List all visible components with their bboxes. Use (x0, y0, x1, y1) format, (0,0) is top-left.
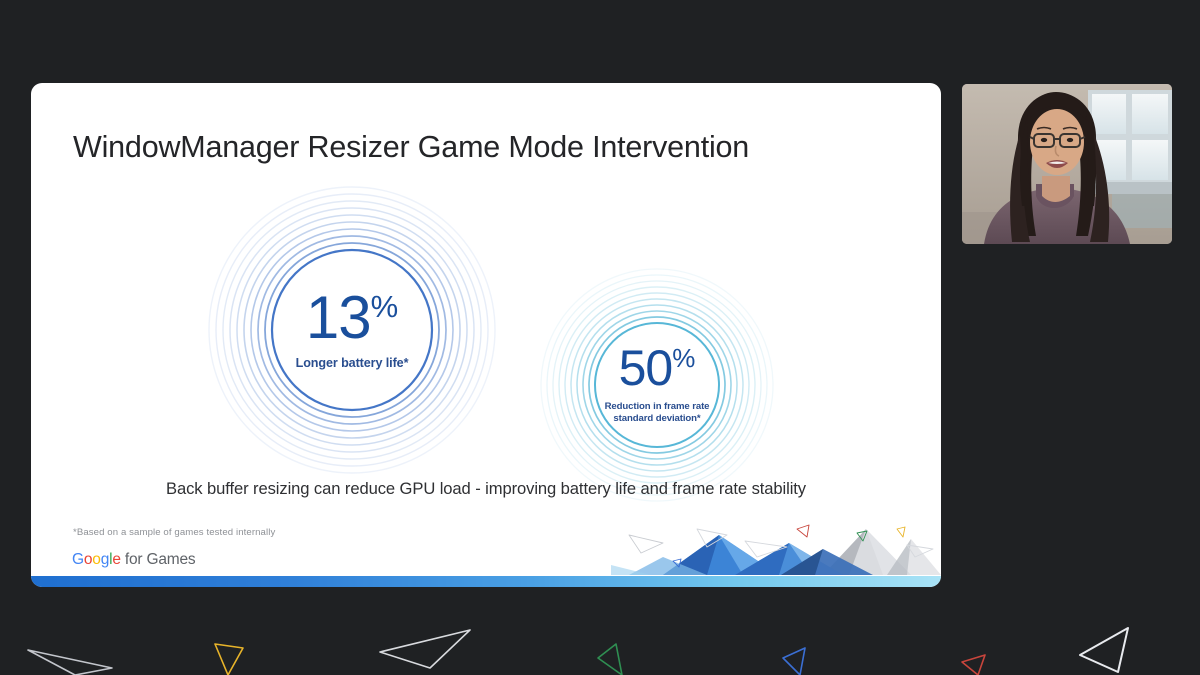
low-poly-mountain-art (611, 513, 941, 575)
logo-letter-o2: o (92, 551, 100, 568)
triangle-white-3 (1080, 628, 1128, 672)
triangle-green (598, 644, 622, 675)
stat-circle-framerate: 50% Reduction in frame rate standard dev… (539, 267, 775, 503)
stat-label-battery: Longer battery life* (239, 355, 465, 371)
logo-letter-g1: G (72, 551, 84, 568)
slide-footnote: *Based on a sample of games tested inter… (73, 527, 275, 538)
logo-letter-e: e (112, 551, 120, 568)
triangle-yellow (215, 644, 243, 675)
logo-suffix: for Games (121, 551, 196, 568)
slide-bottom-gradient-bar (31, 576, 941, 587)
percent-sign: % (371, 289, 399, 324)
triangle-white-2 (380, 630, 470, 668)
percent-sign: % (672, 343, 695, 373)
google-for-games-logo: Google for Games (72, 551, 195, 569)
triangle-blue (783, 648, 805, 675)
stat-circle-battery: 13% Longer battery life* (207, 185, 497, 475)
slide-title: WindowManager Resizer Game Mode Interven… (73, 130, 749, 165)
stat-label-line-2: standard deviation* (565, 413, 749, 425)
slide-surface: WindowManager Resizer Game Mode Interven… (31, 83, 941, 587)
stat-value-battery: 13% (306, 289, 398, 346)
presenter-webcam-feed[interactable] (962, 84, 1172, 244)
stat-label-line-1: Reduction in frame rate (565, 400, 749, 412)
logo-letter-g2: g (101, 551, 109, 568)
stat-content-framerate: 50% Reduction in frame rate standard dev… (565, 345, 749, 425)
stat-content-battery: 13% Longer battery life* (239, 289, 465, 371)
triangle-red (962, 655, 985, 675)
presentation-screen: WindowManager Resizer Game Mode Interven… (0, 0, 1200, 675)
triangle-white-1 (28, 650, 112, 675)
slide-caption: Back buffer resizing can reduce GPU load… (31, 479, 941, 499)
stat-value-framerate: 50% (619, 345, 696, 393)
presenter-video-image (962, 84, 1172, 244)
stat-label-framerate: Reduction in frame rate standard deviati… (565, 400, 749, 425)
